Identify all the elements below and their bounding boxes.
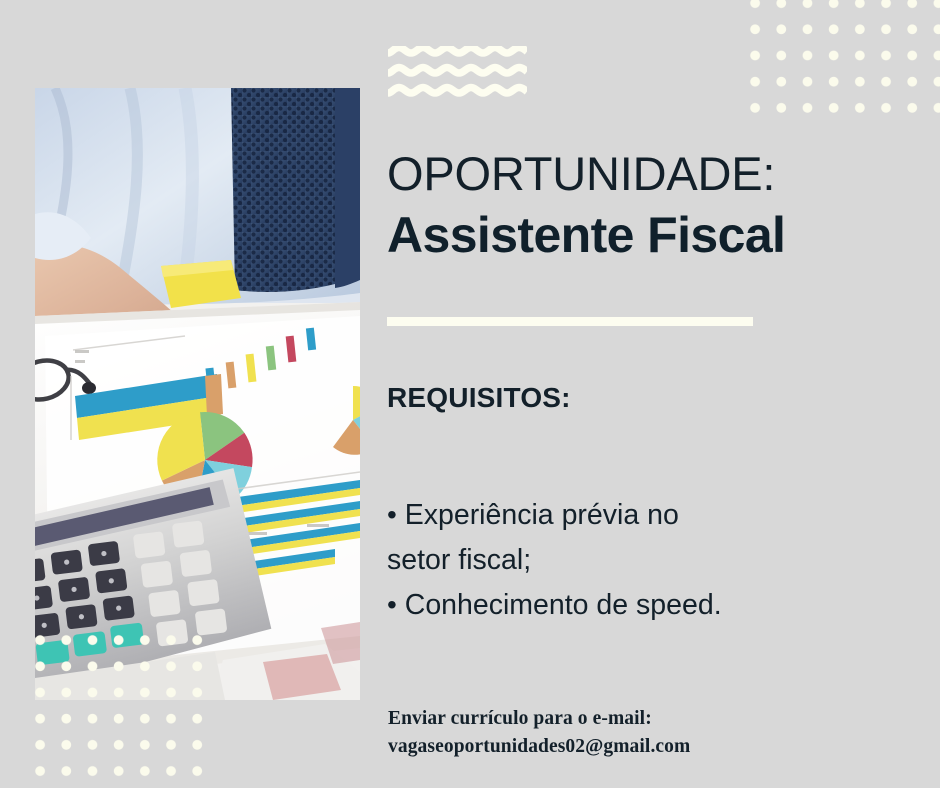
requirements-heading: REQUISITOS: <box>387 382 571 414</box>
list-item-label: setor fiscal; <box>387 544 531 576</box>
requirements-list: • Experiência prévia no setor fiscal; • … <box>387 493 887 628</box>
poster-content: OPORTUNIDADE: Assistente Fiscal REQUISIT… <box>387 0 907 788</box>
page-title-label: OPORTUNIDADE: <box>387 148 887 201</box>
list-item: • Conhecimento de speed. <box>387 583 887 628</box>
photo-illustration <box>35 88 360 700</box>
bullet-icon: • <box>387 589 397 620</box>
footer-instruction: Enviar currículo para o e-mail: <box>388 705 858 733</box>
poster-photo <box>35 88 360 700</box>
list-item: • Experiência prévia no <box>387 493 887 538</box>
job-opportunity-poster: OPORTUNIDADE: Assistente Fiscal REQUISIT… <box>0 0 940 788</box>
dot-grid-icon <box>27 627 212 788</box>
footer: Enviar currículo para o e-mail: vagaseop… <box>388 705 858 760</box>
list-item-label: Conhecimento de speed. <box>405 589 722 621</box>
title-block: OPORTUNIDADE: Assistente Fiscal <box>387 148 887 263</box>
divider <box>387 317 753 326</box>
footer-email[interactable]: vagaseoportunidades02@gmail.com <box>388 733 858 761</box>
list-item-continuation: setor fiscal; <box>387 538 887 583</box>
bullet-icon: • <box>387 499 397 530</box>
page-title-role: Assistente Fiscal <box>387 207 887 263</box>
list-item-label: Experiência prévia no <box>405 499 679 531</box>
